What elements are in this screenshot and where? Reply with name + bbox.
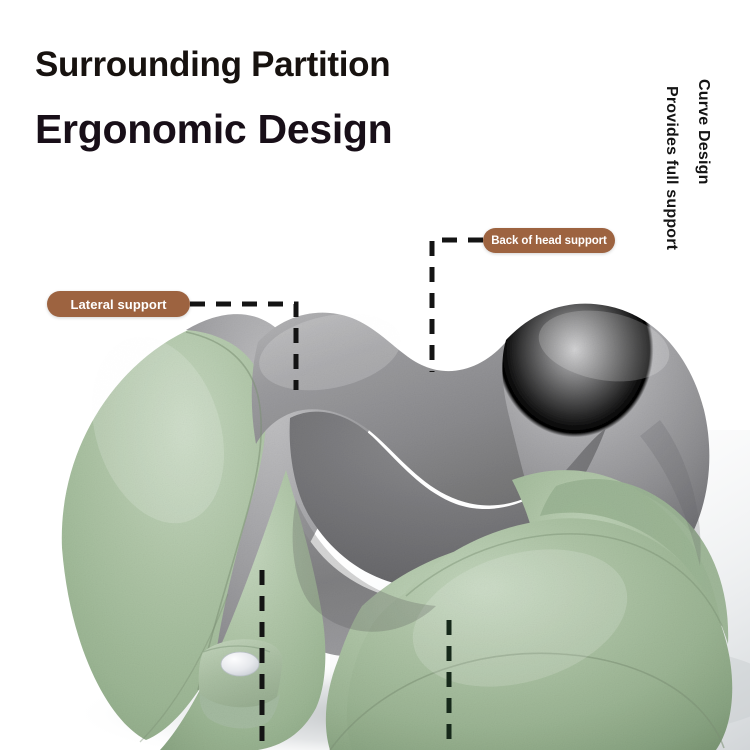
vertical-text-curve-design: Curve Design — [694, 79, 712, 185]
headline-line-2: Ergonomic Design — [35, 106, 392, 153]
vertical-text-provides-full-support: Provides full support — [662, 86, 680, 250]
snap-button-glyph — [221, 652, 259, 676]
headline-line-1: Surrounding Partition — [35, 45, 390, 85]
product-infographic-canvas: Surrounding Partition Ergonomic Design C… — [0, 0, 750, 750]
callout-badge-lateral-support: Lateral support — [47, 291, 190, 317]
callout-badge-back-of-head-support: Back of head support — [483, 228, 615, 253]
